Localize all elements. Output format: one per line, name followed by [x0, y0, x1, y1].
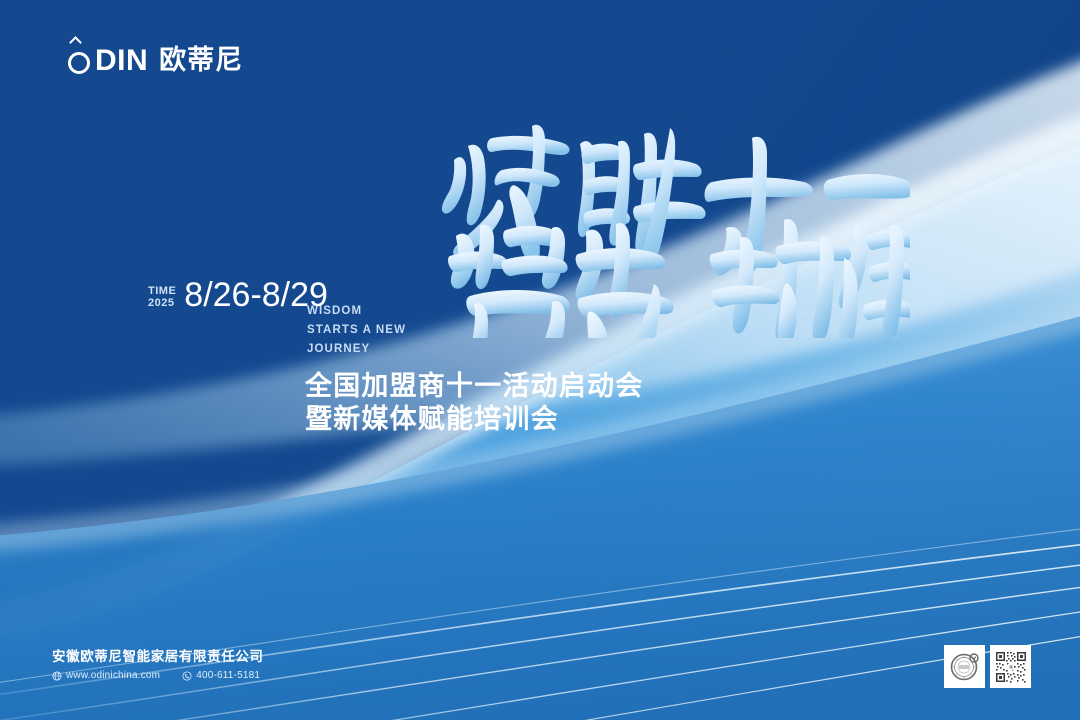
- tagline-line-2: STARTS A NEW: [307, 321, 406, 340]
- phone-text: 400-611-5181: [196, 670, 260, 681]
- time-label-year: 2025: [148, 297, 176, 309]
- brand-logo: DIN 欧蒂尼: [68, 45, 243, 76]
- footer-block: 安徽欧蒂尼智能家居有限责任公司 www.odinichina.com 400-6…: [52, 648, 264, 681]
- tagline-line-1: WISDOM: [307, 302, 406, 321]
- company-name: 安徽欧蒂尼智能家居有限责任公司: [52, 648, 264, 665]
- event-subtitle: 全国加盟商十一活动启动会 暨新媒体赋能培训会: [305, 370, 643, 436]
- phone-icon: [182, 671, 192, 681]
- qr-code-badge[interactable]: [990, 645, 1031, 688]
- phone-item: 400-611-5181: [182, 670, 260, 681]
- time-label-word: TIME: [148, 285, 176, 297]
- tagline-line-3: JOURNEY: [307, 340, 406, 359]
- english-tagline: WISDOM STARTS A NEW JOURNEY: [307, 302, 406, 359]
- o-circumflex-mark-icon: [68, 45, 90, 76]
- headline-line2-glyphs: [448, 225, 570, 338]
- logo-chinese-text: 欧蒂尼: [159, 47, 243, 74]
- headline-calligraphy: [440, 108, 910, 338]
- website-item: www.odinichina.com: [52, 670, 160, 681]
- website-text: www.odinichina.com: [66, 670, 160, 681]
- qr-code-icon: [994, 650, 1028, 684]
- subtitle-line-2: 暨新媒体赋能培训会: [305, 403, 643, 436]
- time-label: TIME 2025: [148, 285, 176, 312]
- event-date-block: TIME 2025 8/26-8/29: [148, 278, 328, 312]
- globe-icon: [52, 671, 62, 681]
- subtitle-line-1: 全国加盟商十一活动启动会: [305, 370, 643, 403]
- event-poster: DIN 欧蒂尼: [0, 0, 1080, 720]
- contact-row: www.odinichina.com 400-611-5181: [52, 670, 264, 681]
- circular-seal-icon: [948, 650, 982, 684]
- logo-latin-text: DIN: [95, 46, 148, 76]
- seal-logo-badge[interactable]: [944, 645, 985, 688]
- badge-group: [944, 645, 1031, 688]
